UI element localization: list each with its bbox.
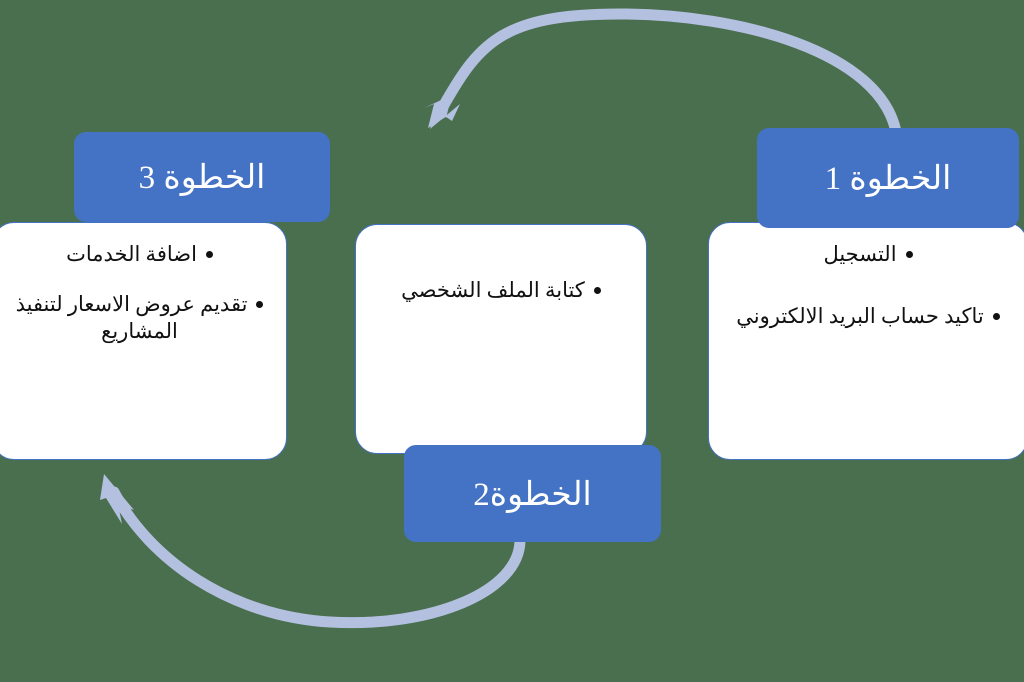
step3-bullet-1: تقديم عروض الاسعار لتنفيذ المشاريع [16,292,248,344]
bullet-dot-icon [906,251,913,258]
step3-card-body: اضافة الخدمات تقديم عروض الاسعار لتنفيذ … [0,223,286,358]
step2-card: كتابة الملف الشخصي [355,224,647,454]
step3-bullet-list: اضافة الخدمات تقديم عروض الاسعار لتنفيذ … [11,241,268,346]
step2-badge[interactable]: الخطوة2 [404,445,661,542]
step1-bullet-0: التسجيل [823,242,896,266]
list-item: تاكيد حساب البريد الالكتروني [727,303,1009,331]
arrow-top-icon [424,14,896,132]
step1-card: التسجيل تاكيد حساب البريد الالكتروني [708,222,1024,460]
step2-bullet-list: كتابة الملف الشخصي [374,277,628,305]
step2-card-body: كتابة الملف الشخصي [356,225,646,317]
diagram-canvas: اضافة الخدمات تقديم عروض الاسعار لتنفيذ … [0,0,1024,682]
bullet-dot-icon [206,251,213,258]
list-item: كتابة الملف الشخصي [374,277,628,305]
bullet-dot-icon [256,301,263,308]
step3-badge[interactable]: الخطوة 3 [74,132,330,222]
step3-bullet-0: اضافة الخدمات [66,242,197,266]
list-item: التسجيل [727,241,1009,269]
step1-badge[interactable]: الخطوة 1 [757,128,1019,228]
step1-bullet-1: تاكيد حساب البريد الالكتروني [736,304,983,328]
step1-card-body: التسجيل تاكيد حساب البريد الالكتروني [709,223,1024,342]
list-item: اضافة الخدمات [11,241,268,269]
step3-card: اضافة الخدمات تقديم عروض الاسعار لتنفيذ … [0,222,287,460]
list-item: تقديم عروض الاسعار لتنفيذ المشاريع [11,291,268,346]
step2-bullet-0: كتابة الملف الشخصي [401,278,585,302]
step1-bullet-list: التسجيل تاكيد حساب البريد الالكتروني [727,241,1009,330]
bullet-dot-icon [993,313,1000,320]
bullet-dot-icon [594,287,601,294]
